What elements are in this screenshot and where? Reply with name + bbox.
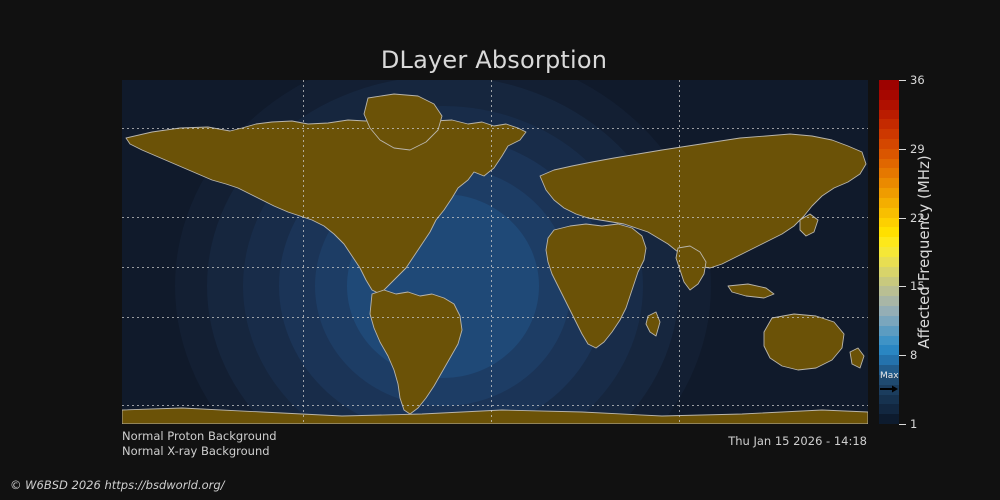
colorbar-band-30 [879,119,899,129]
landmass-group [122,94,868,424]
colorbar-band-26 [879,159,899,169]
colorbar-band-28 [879,139,899,149]
colorbar-band-13 [879,286,899,296]
note-proton-background: Normal Proton Background [122,429,277,444]
colorbar-band-6 [879,355,899,365]
colorbar: Max 1815222936 [879,80,899,424]
colorbar-axis-label: Affected Frequency (MHz) [915,80,937,424]
max-marker-label: Max [880,371,899,381]
colorbar-band-19 [879,227,899,237]
colorbar-band-14 [879,277,899,287]
colorbar-band-32 [879,100,899,110]
colorbar-band-0 [879,414,899,424]
land-north-america [126,118,526,294]
note-xray-background: Normal X-ray Background [122,444,277,459]
colorbar-tick-15 [899,286,906,287]
max-arrow-icon [880,385,898,393]
colorbar-band-22 [879,198,899,208]
colorbar-band-9 [879,326,899,336]
page-title-text: DLayer Absorption [381,46,607,74]
colorbar-band-8 [879,336,899,346]
land-south-america [370,290,462,414]
land-antarctica [122,408,868,424]
colorbar-tick-36 [899,80,906,81]
colorbar-band-17 [879,247,899,257]
land-australia [764,314,844,370]
land-africa [546,224,646,348]
timestamp: Thu Jan 15 2026 - 14:18 [500,434,867,448]
colorbar-tick-1 [899,424,906,425]
colorbar-tick-22 [899,218,906,219]
colorbar-band-10 [879,316,899,326]
max-marker: Max [879,372,899,398]
copyright-notice: © W6BSD 2026 https://bsdworld.org/ [10,478,225,492]
page-title: DLayer Absorption [0,46,1000,74]
land-madagascar [646,312,660,336]
world-map-axes [122,80,868,424]
colorbar-band-33 [879,90,899,100]
colorbar-band-11 [879,306,899,316]
world-coastlines [122,80,868,424]
colorbar-band-21 [879,208,899,218]
land-new-zealand [850,348,864,368]
colorbar-band-29 [879,129,899,139]
colorbar-band-15 [879,267,899,277]
colorbar-band-16 [879,257,899,267]
colorbar-band-24 [879,178,899,188]
dlayer-absorption-page: DLayer Absorption [0,0,1000,500]
colorbar-band-34 [879,80,899,90]
colorbar-band-20 [879,218,899,228]
colorbar-tick-8 [899,355,906,356]
colorbar-band-7 [879,345,899,355]
colorbar-band-27 [879,149,899,159]
land-indonesia [728,284,774,298]
colorbar-band-1 [879,404,899,414]
colorbar-band-12 [879,296,899,306]
colorbar-tick-29 [899,149,906,150]
colorbar-band-23 [879,188,899,198]
status-notes: Normal Proton Background Normal X-ray Ba… [122,429,277,459]
colorbar-band-31 [879,110,899,120]
colorbar-band-18 [879,237,899,247]
colorbar-band-25 [879,168,899,178]
